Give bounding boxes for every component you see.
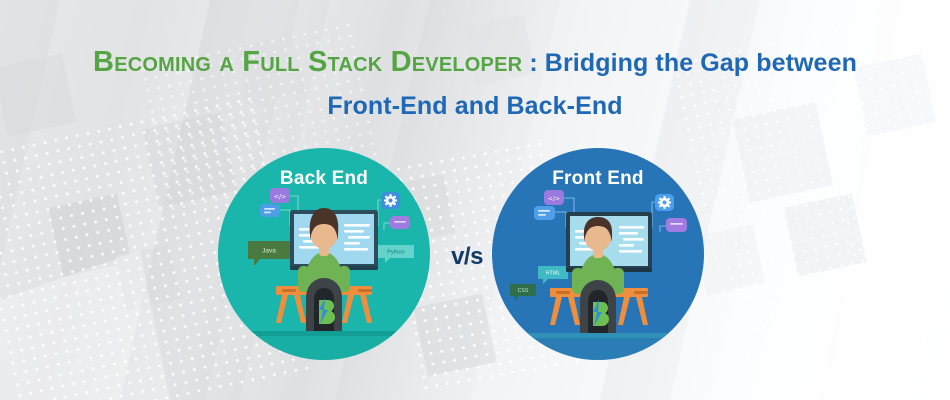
- code-badge-shape: </>: [544, 190, 564, 205]
- title-line-2: Front-End and Back-End: [0, 90, 950, 123]
- title-line-1: Becoming a Full Stack Developer : Bridgi…: [0, 44, 950, 82]
- tag-badge-shape: [390, 216, 410, 229]
- versus-label: v/s: [440, 243, 494, 271]
- gear-badge-shape: [381, 192, 400, 209]
- svg-text:</>: </>: [274, 194, 286, 201]
- svg-text:HTML: HTML: [546, 271, 561, 277]
- back-end-circle: Back End </>: [218, 148, 430, 360]
- front-end-circle: Front End </>: [492, 148, 704, 360]
- title-green-part: Becoming a Full Stack Developer: [93, 46, 522, 78]
- dot-pattern-far-right: [830, 141, 950, 400]
- window-badge-shape: [534, 206, 555, 220]
- java-tag-shape: Java: [248, 241, 290, 266]
- window-badge-shape: [260, 204, 280, 217]
- banner-title: Becoming a Full Stack Developer : Bridgi…: [0, 44, 950, 122]
- html-tag-shape: HTML: [538, 266, 568, 284]
- svg-text:Python: Python: [387, 250, 404, 256]
- svg-text:CSS: CSS: [518, 288, 529, 294]
- back-end-title: Back End: [218, 168, 430, 190]
- css-tag-shape: CSS: [510, 284, 536, 301]
- gear-badge-shape: [655, 194, 674, 211]
- title-blue-part: : Bridging the Gap between: [522, 49, 857, 77]
- banner-root: Becoming a Full Stack Developer : Bridgi…: [0, 0, 950, 400]
- svg-text:</>: </>: [548, 196, 560, 203]
- python-tag-shape: Python: [378, 245, 414, 263]
- title-subtitle: Front-End and Back-End: [327, 92, 622, 120]
- front-end-title: Front End: [492, 168, 704, 190]
- tag-badge-shape: [666, 218, 687, 232]
- code-badge-shape: </>: [270, 188, 290, 203]
- svg-text:Java: Java: [262, 248, 276, 255]
